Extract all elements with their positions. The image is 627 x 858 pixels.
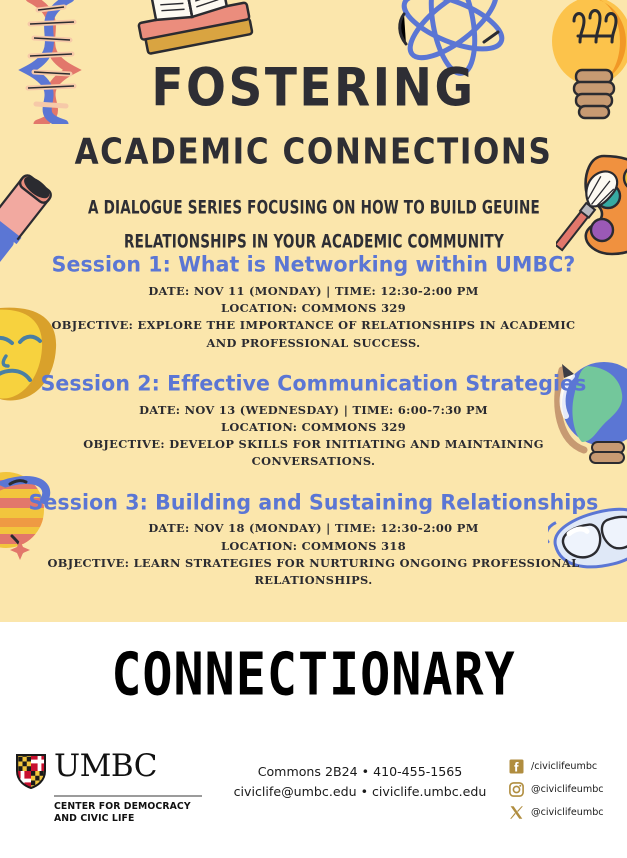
center-name-line-1: CENTER FOR DEMOCRACY <box>54 801 204 813</box>
social-handle: @civiclifeumbc <box>531 784 604 795</box>
session-location: LOCATION: COMMONS 318 <box>0 538 627 555</box>
tagline-line-1: A DIALOGUE SERIES FOCUSING ON HOW TO BUI… <box>86 191 542 225</box>
session-details: DATE: NOV 11 (MONDAY) | TIME: 12:30-2:00… <box>0 283 627 352</box>
facebook-icon <box>508 758 524 774</box>
footer: UMBC CENTER FOR DEMOCRACY AND CIVIC LIFE… <box>0 750 627 858</box>
program-name: CONNECTIONARY <box>0 640 627 708</box>
session-objective: OBJECTIVE: LEARN STRATEGIES FOR NURTURIN… <box>0 555 627 590</box>
social-links: /civiclifeumbc @civiclifeumbc <box>508 758 627 827</box>
session-item: Session 2: Effective Communication Strat… <box>0 371 627 471</box>
social-link-x-twitter[interactable]: @civiclifeumbc <box>508 804 627 820</box>
center-name-line-2: AND CIVIC LIFE <box>54 813 204 825</box>
social-link-facebook[interactable]: /civiclifeumbc <box>508 758 627 774</box>
social-link-instagram[interactable]: @civiclifeumbc <box>508 781 627 797</box>
session-location: LOCATION: COMMONS 329 <box>0 300 627 317</box>
umbc-logo: UMBC CENTER FOR DEMOCRACY AND CIVIC LIFE <box>14 752 204 825</box>
contact-line-2[interactable]: civiclife@umbc.edu • civiclife.umbc.edu <box>215 782 505 802</box>
maryland-shield-icon <box>14 752 48 790</box>
session-title: Session 3: Building and Sustaining Relat… <box>0 489 627 515</box>
contact-info: Commons 2B24 • 410-455-1565 civiclife@um… <box>215 762 505 801</box>
session-item: Session 3: Building and Sustaining Relat… <box>0 490 627 590</box>
umbc-wordmark: UMBC <box>54 752 157 781</box>
headline-block: FOSTERING ACADEMIC CONNECTIONS A DIALOGU… <box>0 62 627 253</box>
event-poster: FOSTERING ACADEMIC CONNECTIONS A DIALOGU… <box>0 0 627 858</box>
center-name: CENTER FOR DEMOCRACY AND CIVIC LIFE <box>54 801 204 826</box>
poster-cream-panel: FOSTERING ACADEMIC CONNECTIONS A DIALOGU… <box>0 0 627 622</box>
instagram-icon <box>508 781 524 797</box>
contact-line-1: Commons 2B24 • 410-455-1565 <box>215 762 505 782</box>
session-title: Session 2: Effective Communication Strat… <box>0 370 627 396</box>
session-list: Session 1: What is Networking within UMB… <box>0 252 627 609</box>
session-datetime: DATE: NOV 13 (WEDNESDAY) | TIME: 6:00-7:… <box>0 402 627 419</box>
session-datetime: DATE: NOV 11 (MONDAY) | TIME: 12:30-2:00… <box>0 283 627 300</box>
session-title: Session 1: What is Networking within UMB… <box>0 251 627 277</box>
session-location: LOCATION: COMMONS 329 <box>0 419 627 436</box>
brand-band: CONNECTIONARY <box>0 622 627 858</box>
session-details: DATE: NOV 18 (MONDAY) | TIME: 12:30-2:00… <box>0 520 627 589</box>
tagline: A DIALOGUE SERIES FOCUSING ON HOW TO BUI… <box>86 191 542 259</box>
session-item: Session 1: What is Networking within UMB… <box>0 252 627 352</box>
x-twitter-icon <box>508 804 524 820</box>
page-title: FOSTERING <box>0 62 627 115</box>
session-objective: OBJECTIVE: EXPLORE THE IMPORTANCE OF REL… <box>0 317 627 352</box>
session-details: DATE: NOV 13 (WEDNESDAY) | TIME: 6:00-7:… <box>0 402 627 471</box>
social-handle: @civiclifeumbc <box>531 807 604 818</box>
session-objective: OBJECTIVE: DEVELOP SKILLS FOR INITIATING… <box>0 436 627 471</box>
page-subtitle: ACADEMIC CONNECTIONS <box>0 135 627 170</box>
session-datetime: DATE: NOV 18 (MONDAY) | TIME: 12:30-2:00… <box>0 520 627 537</box>
social-handle: /civiclifeumbc <box>531 761 597 772</box>
logo-divider <box>54 795 202 797</box>
